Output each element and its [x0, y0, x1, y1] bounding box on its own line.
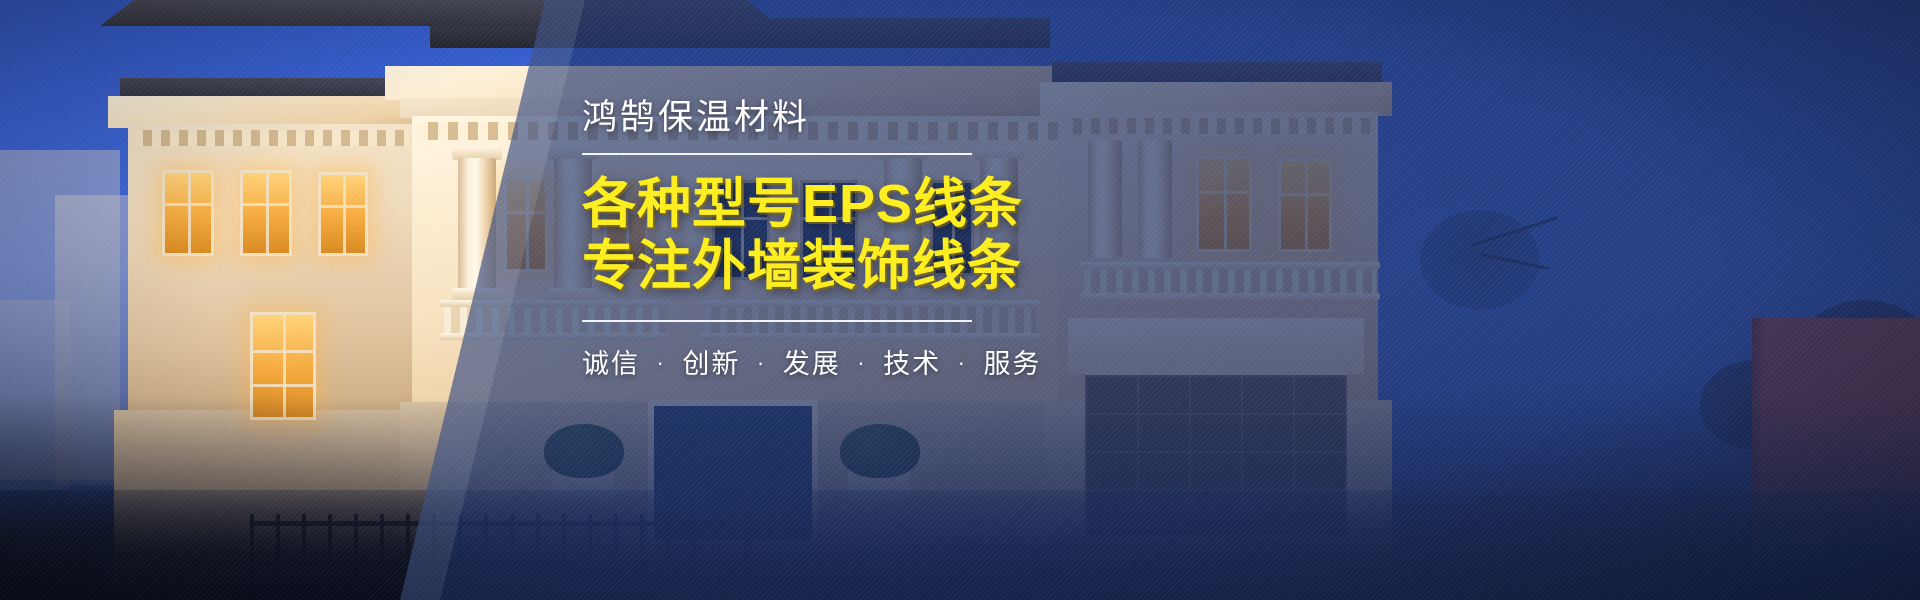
- window-lit: [162, 170, 214, 256]
- tree-silhouette: [1420, 210, 1540, 310]
- right-wing-dentil-band: [1064, 118, 1370, 134]
- tagline-separator: ·: [951, 350, 974, 375]
- brand-name: 鸿鹄保温材料: [582, 96, 1002, 140]
- tagline-separator: ·: [650, 350, 673, 375]
- left-wing-dentil-band: [134, 130, 410, 146]
- tagline-item-1: 诚信: [582, 349, 640, 379]
- center-roof-slope: [100, 0, 780, 26]
- column: [458, 158, 496, 290]
- hero-banner: 鸿鹄保温材料 各种型号EPS线条 专注外墙装饰线条 诚信 · 创新 · 发展 ·…: [0, 0, 1920, 600]
- right-wing-cornice: [1040, 82, 1392, 116]
- balcony-rail: [1080, 293, 1380, 300]
- headline-line-1: 各种型号EPS线条: [582, 173, 1002, 236]
- window-lit: [1196, 156, 1252, 252]
- headline-group: 各种型号EPS线条 专注外墙装饰线条: [582, 173, 1002, 298]
- headline-line-2: 专注外墙装饰线条: [582, 235, 1002, 298]
- banner-text-block: 鸿鹄保温材料 各种型号EPS线条 专注外墙装饰线条 诚信 · 创新 · 发展 ·…: [582, 96, 1002, 381]
- divider-bottom: [582, 320, 972, 322]
- balustrade: [1084, 269, 1376, 293]
- divider-top: [582, 153, 972, 155]
- column: [1088, 140, 1122, 258]
- tagline-item-2: 创新: [682, 349, 740, 379]
- tagline-separator: ·: [850, 350, 873, 375]
- tagline-separator: ·: [750, 350, 773, 375]
- center-cornice: [385, 66, 1097, 100]
- column-base: [452, 288, 502, 300]
- window-lit: [504, 176, 548, 272]
- window-lit: [318, 172, 368, 256]
- foreground-ground: [0, 490, 1920, 600]
- window-lit: [240, 170, 292, 256]
- tagline: 诚信 · 创新 · 发展 · 技术 · 服务: [582, 342, 1002, 381]
- balcony-rail: [1080, 262, 1380, 269]
- column: [1138, 140, 1172, 258]
- tagline-item-5: 服务: [983, 349, 1041, 379]
- tagline-item-4: 技术: [883, 349, 941, 379]
- window-lit: [1278, 158, 1332, 252]
- tagline-item-3: 发展: [783, 349, 841, 379]
- garage-header: [1068, 318, 1364, 374]
